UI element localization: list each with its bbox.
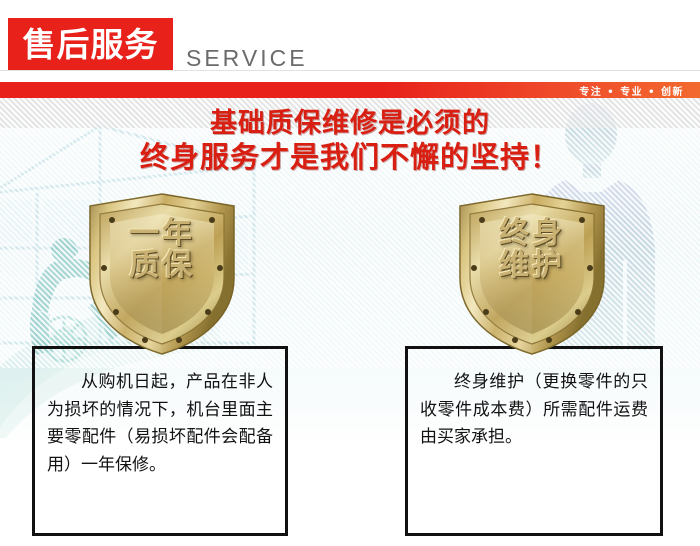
page-title: 售后服务 (23, 28, 159, 61)
content-stage: 基础质保维修是必须的 终身服务才是我们不懈的坚持！ (0, 98, 700, 546)
lifetime-service-info-box: 终身维护（更换零件的只收零件成本费）所需配件运费由买家承担。 (405, 346, 663, 536)
header-divider (0, 70, 700, 71)
lifetime-service-info-text: 终身维护（更换零件的只收零件成本费）所需配件运费由买家承担。 (408, 349, 660, 452)
warranty-info-text: 从购机日起，产品在非人为损坏的情况下，机台里面主要零配件（易损坏配件会配备用）一… (35, 349, 285, 479)
lifetime-service-shield-badge: 终身 维护 (452, 190, 612, 358)
header-slogan: 专注 • 专业 • 创新 (579, 83, 684, 98)
warranty-shield-badge: 一年 质保 (82, 190, 242, 358)
page-title-badge: 售后服务 (8, 18, 173, 70)
shield-icon (82, 190, 242, 358)
warranty-info-box: 从购机日起，产品在非人为损坏的情况下，机台里面主要零配件（易损坏配件会配备用）一… (32, 346, 288, 536)
shield-icon (452, 190, 612, 358)
after-sales-service-banner: 售后服务 SERVICE 专注 • 专业 • 创新 (0, 0, 700, 546)
page-header: 售后服务 SERVICE 专注 • 专业 • 创新 (0, 0, 700, 98)
header-accent-bar: 专注 • 专业 • 创新 (0, 82, 700, 98)
page-subtitle: SERVICE (186, 45, 308, 72)
